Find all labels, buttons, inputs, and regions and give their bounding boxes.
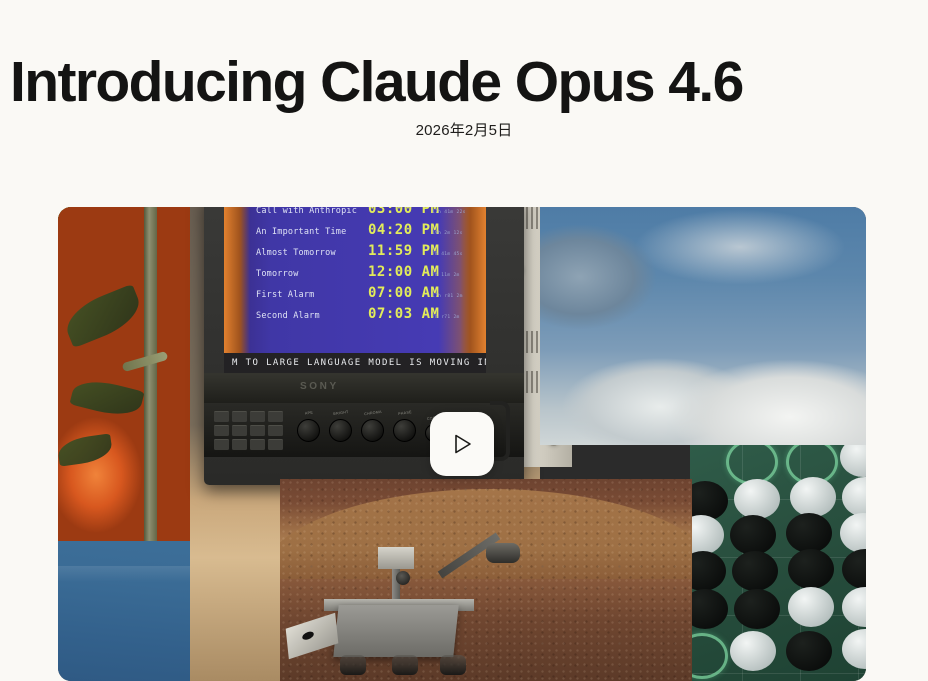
alarm-meta: 7h 41m 45s <box>432 252 463 257</box>
alarm-time: 03:00 PM <box>368 207 432 217</box>
article-page: Introducing Claude Opus 4.6 2026年2月5日 <box>0 0 928 681</box>
rover-chassis <box>333 605 458 657</box>
rover-wheel <box>440 655 466 675</box>
tomato-vine-photo <box>58 207 190 541</box>
collage-inner: Call with Anthropic 03:00 PM 17h 41m 22s… <box>58 207 866 681</box>
knob-label: APE <box>304 410 313 415</box>
leaf-shape <box>69 375 144 421</box>
knob-phase: PHASE <box>393 419 416 442</box>
alarm-label: Second Alarm <box>256 311 368 321</box>
alarm-meta: 7h 11m 2m <box>432 273 460 278</box>
othello-disc <box>786 631 832 671</box>
alarm-label: An Important Time <box>256 227 368 237</box>
knob-label: BRIGHT <box>333 409 349 415</box>
alarm-row: Call with Anthropic 03:00 PM 17h 41m 22s <box>256 207 476 222</box>
othello-board-photo <box>690 445 866 681</box>
rover-wheel <box>340 655 366 675</box>
screen-edge-glow <box>224 207 250 373</box>
othello-disc <box>788 587 834 627</box>
alarm-label: First Alarm <box>256 290 368 300</box>
alarm-row: Tomorrow 12:00 AM 7h 11m 2m <box>256 264 476 285</box>
othello-disc <box>734 589 780 629</box>
alarm-time: 07:00 AM <box>368 285 432 301</box>
othello-disc <box>786 513 832 553</box>
publish-date: 2026年2月5日 <box>0 120 928 142</box>
alarm-list: Call with Anthropic 03:00 PM 17h 41m 22s… <box>256 207 476 327</box>
othello-disc <box>734 479 780 519</box>
alarm-label: Almost Tomorrow <box>256 248 368 258</box>
othello-disc <box>788 549 834 589</box>
knob-label: PHASE <box>397 410 411 416</box>
rover-turret <box>486 543 520 563</box>
rover-vehicle <box>300 565 530 675</box>
crt-screen: Call with Anthropic 03:00 PM 17h 41m 22s… <box>224 207 486 373</box>
alarm-time: 04:20 PM <box>368 222 432 238</box>
rover-wheel <box>392 655 418 675</box>
alarm-row: Almost Tomorrow 11:59 PM 7h 41m 45s <box>256 243 476 264</box>
play-triangle-icon <box>449 431 475 457</box>
clouds-photo <box>540 207 866 445</box>
brand-logo: SONY <box>300 381 339 392</box>
alarm-meta: 19h 2m 12s <box>432 231 463 236</box>
knob-chroma: CHROMA <box>361 419 384 442</box>
othello-disc <box>790 477 836 517</box>
crt-ticker: M TO LARGE LANGUAGE MODEL IS MOVING IN F… <box>224 353 486 373</box>
alarm-time: 07:03 AM <box>368 306 432 322</box>
knob-ape: APE <box>297 419 320 442</box>
vine-stem <box>144 207 157 541</box>
rover-camera-lens <box>396 571 410 585</box>
alarm-label: Tomorrow <box>256 269 368 279</box>
leaf-shape <box>58 433 114 466</box>
alarm-meta: 17h 41m 22s <box>432 210 466 215</box>
rover-camera-head <box>378 547 414 569</box>
mars-rover-photo <box>280 479 692 681</box>
alarm-row: First Alarm 07:00 AM 17h r81 2m <box>256 285 476 306</box>
video-collage-card[interactable]: Call with Anthropic 03:00 PM 17h 41m 22s… <box>58 207 866 681</box>
page-title: Introducing Claude Opus 4.6 <box>10 46 922 118</box>
alarm-row: Second Alarm 07:03 AM 7h r71 2m <box>256 306 476 327</box>
play-button[interactable] <box>430 412 494 476</box>
alarm-meta: 17h r81 2m <box>432 294 463 299</box>
alarm-time: 11:59 PM <box>368 243 432 259</box>
alarm-meta: 7h r71 2m <box>432 315 460 320</box>
alarm-label: Call with Anthropic <box>256 207 368 216</box>
othello-disc <box>730 631 776 671</box>
alarm-row: An Important Time 04:20 PM 19h 2m 12s <box>256 222 476 243</box>
leaf-shape <box>60 284 147 348</box>
othello-disc <box>732 551 778 591</box>
monitor-button-grid <box>214 411 283 450</box>
alarm-time: 12:00 AM <box>368 264 432 280</box>
knob-label: CHROMA <box>363 409 381 415</box>
othello-disc <box>730 515 776 555</box>
knob-bright: BRIGHT <box>329 419 352 442</box>
monitor-bezel <box>204 373 524 403</box>
